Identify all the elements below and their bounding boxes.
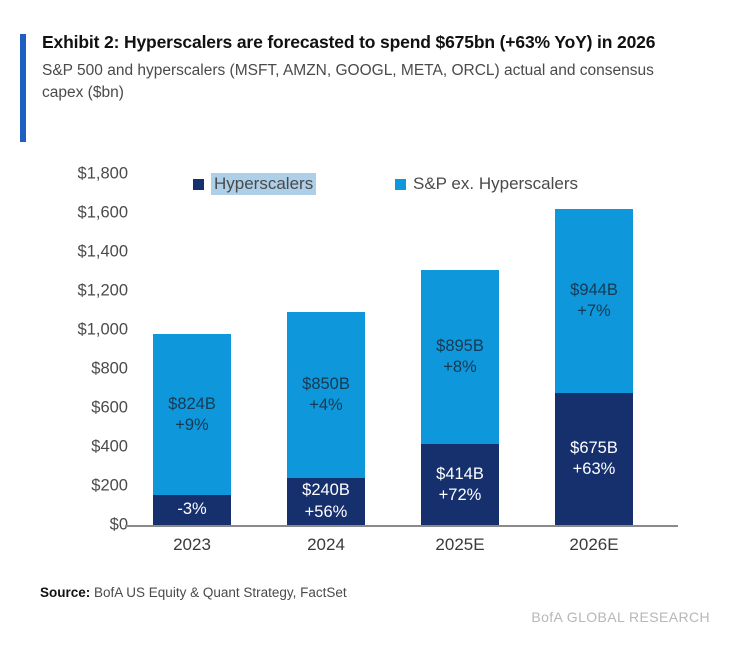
exhibit-header: Exhibit 2: Hyperscalers are forecasted t… <box>20 30 710 104</box>
bar-group[interactable]: $675B+63%$944B+7% <box>555 209 633 525</box>
y-axis-tick-label: $1,800 <box>8 165 128 184</box>
y-axis-tick-label: $800 <box>8 360 128 379</box>
bar-segment-hyperscalers[interactable]: $414B+72% <box>421 444 499 525</box>
y-axis-tick-label: $200 <box>8 477 128 496</box>
y-axis-tick-label: $400 <box>8 438 128 457</box>
bar-group[interactable]: $240B+56%$850B+4% <box>287 312 365 525</box>
bar-group[interactable]: $154B-3%$824B+9% <box>153 334 231 525</box>
header-text-block: Exhibit 2: Hyperscalers are forecasted t… <box>42 30 710 104</box>
bar-value-label: $895B <box>436 336 484 357</box>
bar-pct-label: -3% <box>177 499 206 520</box>
bar-segment-sp-ex-hyperscalers[interactable]: $850B+4% <box>287 312 365 478</box>
source-note: Source: BofA US Equity & Quant Strategy,… <box>40 585 347 600</box>
x-axis-line <box>125 525 678 527</box>
brand-footer: BofA GLOBAL RESEARCH <box>531 609 710 625</box>
bar-value-label: $414B <box>436 464 484 485</box>
bar-group[interactable]: $414B+72%$895B+8% <box>421 270 499 525</box>
bar-pct-label: +63% <box>573 459 616 480</box>
bar-segment-sp-ex-hyperscalers[interactable]: $895B+8% <box>421 270 499 445</box>
bar-value-label: $944B <box>570 280 618 301</box>
plot-area: $154B-3%$824B+9%2023$240B+56%$850B+4%202… <box>135 155 680 555</box>
y-axis-tick-label: $1,400 <box>8 243 128 262</box>
accent-bar <box>20 34 26 142</box>
source-label: Source: <box>40 585 90 600</box>
y-axis-tick-label: $1,000 <box>8 321 128 340</box>
bar-value-label: $675B <box>570 438 618 459</box>
y-axis: $1,800$1,600$1,400$1,200$1,000$800$600$4… <box>0 155 128 555</box>
bar-pct-label: +4% <box>309 395 342 416</box>
bar-pct-label: +9% <box>175 415 208 436</box>
x-axis-tick-label: 2024 <box>287 535 365 555</box>
bar-pct-label: +56% <box>305 502 348 523</box>
bar-segment-hyperscalers[interactable]: $675B+63% <box>555 393 633 525</box>
y-axis-tick-label: $600 <box>8 399 128 418</box>
page-subtitle: S&P 500 and hyperscalers (MSFT, AMZN, GO… <box>42 60 667 104</box>
bar-value-label: $240B <box>302 480 350 501</box>
bar-segment-hyperscalers[interactable]: -3% <box>153 495 231 525</box>
page-title: Exhibit 2: Hyperscalers are forecasted t… <box>42 30 682 54</box>
source-text: BofA US Equity & Quant Strategy, FactSet <box>90 585 346 600</box>
bar-segment-sp-ex-hyperscalers[interactable]: $944B+7% <box>555 209 633 393</box>
bar-value-label: $850B <box>302 374 350 395</box>
stacked-bar-chart: $1,800$1,600$1,400$1,200$1,000$800$600$4… <box>0 155 735 555</box>
bar-segment-sp-ex-hyperscalers[interactable]: $824B+9% <box>153 334 231 495</box>
y-axis-tick-label: $0 <box>8 516 128 535</box>
bar-pct-label: +8% <box>443 357 476 378</box>
y-axis-tick-label: $1,200 <box>8 282 128 301</box>
bar-value-label: $824B <box>168 394 216 415</box>
y-axis-tick-label: $1,600 <box>8 204 128 223</box>
x-axis-tick-label: 2026E <box>555 535 633 555</box>
bar-pct-label: +7% <box>577 301 610 322</box>
bar-segment-hyperscalers[interactable]: $240B+56% <box>287 478 365 525</box>
x-axis-tick-label: 2023 <box>153 535 231 555</box>
x-axis-tick-label: 2025E <box>421 535 499 555</box>
bar-pct-label: +72% <box>439 485 482 506</box>
